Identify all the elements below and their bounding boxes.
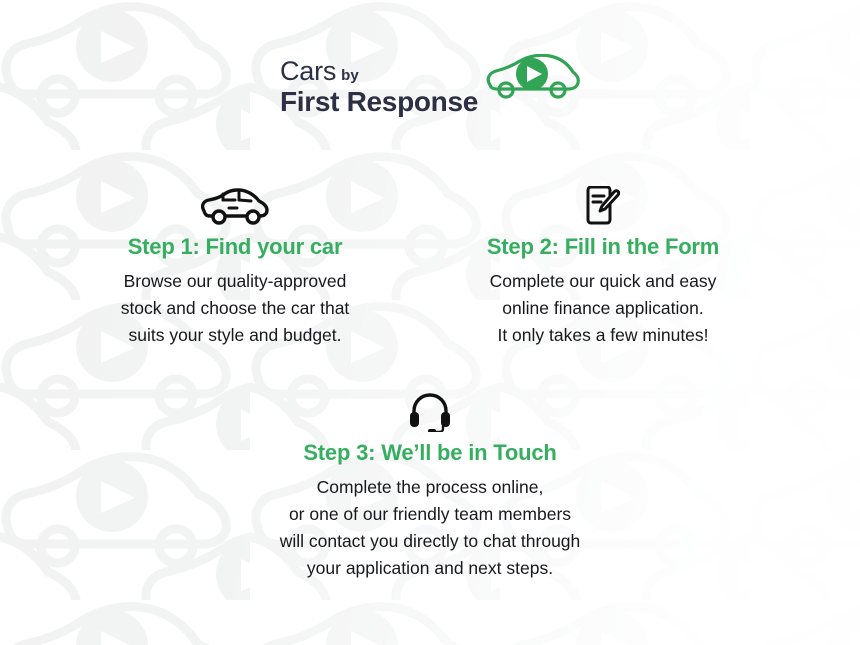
step-1-body-line-1: Browse our quality-approved <box>60 268 410 295</box>
brand-logo: Cars by First Response <box>0 58 860 116</box>
form-pencil-icon <box>428 186 778 226</box>
step-3-body-line-2: or one of our friendly team members <box>215 501 645 528</box>
step-1-title: Step 1: Find your car <box>60 234 410 260</box>
step-2-body: Complete our quick and easy online finan… <box>428 268 778 349</box>
brand-logo-text: Cars by First Response <box>280 58 478 116</box>
step-2-block: Step 2: Fill in the Form Complete our qu… <box>428 186 778 349</box>
step-2-body-line-3: It only takes a few minutes! <box>428 322 778 349</box>
step-3-body: Complete the process online, or one of o… <box>215 474 645 583</box>
step-3-body-line-4: your application and next steps. <box>215 555 645 582</box>
step-2-body-line-2: online finance application. <box>428 295 778 322</box>
step-1-body: Browse our quality-approved stock and ch… <box>60 268 410 349</box>
step-2-body-line-1: Complete our quick and easy <box>428 268 778 295</box>
step-3-title: Step 3: We’ll be in Touch <box>215 440 645 466</box>
step-2-title: Step 2: Fill in the Form <box>428 234 778 260</box>
car-play-logo-icon <box>484 54 580 105</box>
brand-logo-line2: First Response <box>280 88 478 116</box>
step-1-body-line-2: stock and choose the car that <box>60 295 410 322</box>
step-3-body-line-3: will contact you directly to chat throug… <box>215 528 645 555</box>
car-side-icon <box>60 186 410 226</box>
brand-logo-line1-small: by <box>341 68 359 83</box>
brand-logo-line1-main: Cars <box>280 58 336 85</box>
poster-canvas: Cars by First Response <box>0 0 860 645</box>
step-3-block: Step 3: We’ll be in Touch Complete the p… <box>215 392 645 583</box>
step-1-body-line-3: suits your style and budget. <box>60 322 410 349</box>
step-1-block: Step 1: Find your car Browse our quality… <box>60 186 410 349</box>
headset-icon <box>215 392 645 432</box>
step-3-body-line-1: Complete the process online, <box>215 474 645 501</box>
